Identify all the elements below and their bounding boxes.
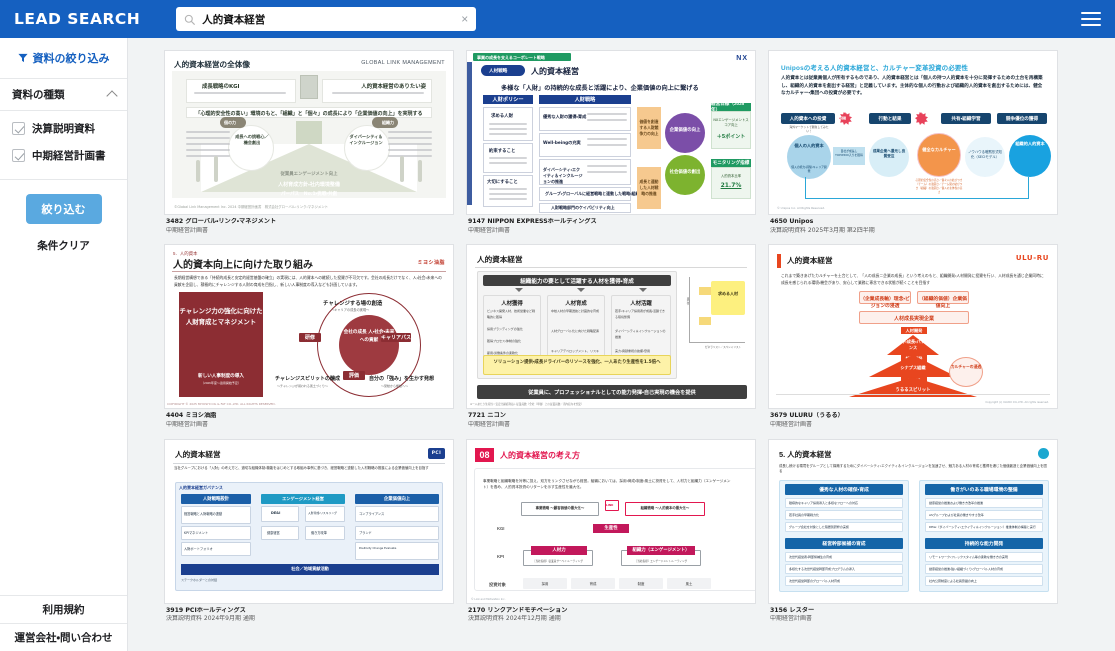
slide-step: 行動と結果 — [869, 113, 911, 124]
slide-footer-bar: 従業員に、プロフェッショナルとしての能力発揮・自己実現の機会を提供 — [477, 385, 747, 399]
slide-right-item-2: 健康経営の推進・強い組織づくり・グローバル人材の育成 — [929, 567, 1003, 571]
slide-circle-bottom: 社会価値の創出 — [669, 169, 701, 175]
filter-section-label: 資料の種類 — [12, 87, 65, 102]
slide-thumbnail[interactable]: 5. 人的資本経営 成長し続ける環境をグループとして構築するためにダイバーシティ… — [768, 439, 1058, 604]
slide-item: Positivity Change Evaluate — [359, 546, 437, 550]
slide-thumbnail[interactable]: 人的資本経営 組織能力の要として活躍する人材を獲得・育成 人材獲得 ビジネス開発… — [466, 244, 756, 409]
filter-section-doctype[interactable]: 資料の種類 — [0, 78, 127, 110]
slide-mid-header: エンゲージメント経営 — [261, 494, 345, 504]
slide-right-item: DE&I（ダイバーシティ・エクイティ＆インクルージョン）推進体制の構築と実行 — [929, 525, 1036, 529]
results-area: 人的資本経営の全体像 GLOBAL LINK MANAGEMENT 成長戦略のK… — [128, 38, 1115, 651]
checkbox-group: 決算説明資料 中期経営計画書 — [0, 110, 127, 179]
slide-title: 人的資本経営の全体像 — [174, 59, 250, 70]
slide-kpi-right-sub: ［当社指標］エンゲージメント・レーティング — [623, 559, 699, 563]
sidebar-title: 資料の絞り込み — [33, 50, 110, 66]
slide-kpi-left: 人材力 — [531, 546, 587, 555]
slide-col-item: ダイバーシティ＆インクルージョンの推進 — [615, 329, 667, 340]
slide-base-2: パーパス No.1・挑戦・共創 — [281, 191, 337, 197]
result-card[interactable]: 5. 人的資本経営 成長し続ける環境をグループとして構築するためにダイバーシティ… — [768, 439, 1058, 623]
slide-invest-item: 制度 — [619, 581, 663, 586]
slide-canvas: 人的資本経営 組織能力の要として活躍する人材を獲得・育成 人材獲得 ビジネス開発… — [467, 245, 755, 408]
slide-badge-right: 組織力 — [382, 120, 394, 126]
slide-node-bl-sub: ～チャレンジが報われる風土づくり～ — [277, 384, 328, 388]
slide-link-label: LINK — [606, 503, 613, 507]
slide-step: 共有・組織学習 — [941, 113, 991, 124]
slide-col-item: 獲得プロセス・体制の強化 — [487, 339, 537, 343]
slide-step: 人的資本への投資 — [781, 113, 835, 124]
slide-page-note: ※一人あたり生産性＝安定化継続利益＋従業員数（全社（単独）上の従業員数／所内給与… — [470, 402, 584, 406]
card-company: 4404 ミヨシ油脂 — [166, 412, 452, 420]
slide-col-header: 人材活躍 — [611, 299, 671, 307]
slide-invest-item: 採用 — [523, 581, 567, 586]
slide-logo: ULU-RU — [1016, 254, 1049, 262]
slide-thumbnail[interactable]: Uniposの考える人的資本経営と、カルチャー変革投資の必要性 人的資本とは従業… — [768, 50, 1058, 215]
slide-canvas: 5. 人的資本経営 成長し続ける環境をグループとして構築するためにダイバーシティ… — [769, 440, 1057, 603]
slide-red-box: チャレンジ力の強化に向けた人財育成とマネジメント — [179, 307, 263, 328]
slide-pyr-1: イキイキ・成長・パフォーマンス — [887, 339, 939, 351]
checkbox-row-kessan[interactable]: 決算説明資料 — [0, 115, 127, 142]
slide-item: 働き方改革 — [311, 530, 327, 535]
card-caption: 4404 ミヨシ油脂 中期経営計画書 — [164, 409, 454, 428]
slide-step: 競争優位の獲得 — [997, 113, 1047, 124]
slide-ribbon: 事業の成長を支えるコーポレート戦略 — [477, 55, 545, 61]
slide-title: 人的資本経営 — [477, 254, 523, 265]
results-grid: 人的資本経営の全体像 GLOBAL LINK MANAGEMENT 成長戦略のK… — [164, 50, 1101, 623]
slide-footer: © Unipos Inc. All Rights Reserved. — [777, 206, 825, 210]
apply-filter-button[interactable]: 絞り込む — [26, 194, 102, 224]
checkbox-label-chuki: 中期経営計画書 — [32, 148, 106, 163]
slide-lead: 成長し続ける環境をグループとして構築するためにダイバーシティ・エクイティ＆インク… — [779, 464, 1047, 476]
checkbox-kessan[interactable] — [12, 122, 25, 135]
slide-col1-item: 約束すること — [489, 148, 515, 154]
slide-left-header-2: 経営幹部候補の育成 — [785, 538, 903, 549]
slide-right-header: 企業価値向上 — [355, 494, 439, 504]
slide-right-item-2: リモートワーク・フレックスタイム等の柔軟な働き方の実現 — [929, 555, 1008, 559]
card-doctype: 中期経営計画書 — [166, 227, 452, 235]
card-caption: 3156 レスター 中期経営計画書 — [768, 604, 1058, 623]
card-company: 4650 Unipos — [770, 218, 1056, 226]
slide-side-note: ステークホルダーとの対話 — [181, 578, 217, 582]
slide-chart-x: ゼネラリスト／スペシャリスト — [705, 345, 741, 349]
slide-pyr-2: シナプス組織 — [885, 365, 941, 371]
card-caption: 4650 Unipos 決算説明資料 2025年3月期 第2四半期 — [768, 215, 1058, 234]
slide-kpi-value: ＋5ポイント — [713, 133, 749, 140]
slide-mon-name: 人的資本比率 — [713, 173, 749, 178]
slide-node-5: 組織的人的資本 — [1012, 141, 1048, 147]
slide-left-item: 若手社員の早期戦力化 — [789, 513, 819, 517]
slide-col1-header: 人財ポリシー — [483, 95, 533, 104]
slide-base-1: 人材育成方針・社内環境整備 — [278, 181, 340, 188]
sidebar-title-row: 資料の絞り込み — [0, 38, 127, 78]
card-caption: 3919 PCIホールディングス 決算説明資料 2024年9月期 通期 — [164, 604, 454, 623]
slide-title: Uniposの考える人的資本経営と、カルチャー変革投資の必要性 — [781, 63, 968, 72]
card-doctype: 中期経営計画書 — [166, 421, 452, 429]
search-input[interactable]: 人的資本経営 — [202, 12, 457, 27]
slide-canvas: 08 人的資本経営の考え方 事業戦略と組織戦略を対等に捉え、双方をリンクさせなが… — [467, 440, 755, 603]
card-caption: 3482 グローバル・リンク・マネジメント 中期経営計画書 — [164, 215, 454, 234]
slide-flow-up: 価値を創造する人財競争力の向上 — [639, 119, 659, 137]
sidebar-link-contact[interactable]: 運営会社・問い合わせ — [0, 623, 127, 651]
slide-number: 08 — [475, 448, 494, 462]
slide-col-item: 中核人材の早期選抜と計画的な育成 — [551, 309, 601, 314]
chevron-up-icon[interactable] — [106, 90, 117, 101]
slide-circle-left: 成長への挑戦心／機会創出 — [234, 134, 270, 146]
card-doctype: 決算説明資料 2024年12月期 通期 — [468, 615, 754, 623]
card-doctype: 決算説明資料 2024年9月期 通期 — [166, 615, 452, 623]
slide-canvas: 人的資本経営の全体像 GLOBAL LINK MANAGEMENT 成長戦略のK… — [165, 51, 453, 214]
slide-canvas: 人的資本経営 PCI 当社グループにおける「人財」の考え方と、適切な組織体制・機… — [165, 440, 453, 603]
slide-mon-value: 21.7% — [713, 182, 749, 189]
result-card[interactable]: 人的資本経営 ULU-RU これまで築きあげたカルチャーを土台として、「人の成長… — [768, 244, 1058, 428]
slide-node-br: 自分の「強み」を生かす発想 — [369, 375, 434, 382]
slide-paragraph: 人的資本とは従業員個人が所有するものであり、人的資本経営とは「個人の持つ人的資本… — [781, 75, 1043, 98]
slide-item: 経営戦略と人財戦略の連動 — [184, 511, 248, 516]
slide-kgi-value: 生産性 — [593, 524, 629, 533]
slide-col-item: 採用ブランディングの強化 — [487, 327, 537, 331]
slide-right-item-2: 社内公募制度による社員意識の向上 — [929, 579, 977, 583]
slide-thumbnail[interactable]: 人的資本経営の全体像 GLOBAL LINK MANAGEMENT 成長戦略のK… — [164, 50, 454, 215]
slide-red-box-sub: 新しい人事制度の導入 — [179, 373, 263, 379]
slide-invest-item: 育成 — [571, 581, 615, 586]
slide-logo-icon — [1038, 448, 1049, 459]
card-doctype: 決算説明資料 2025年3月期 第2四半期 — [770, 227, 1056, 235]
slide-thumbnail[interactable]: 人的資本経営 PCI 当社グループにおける「人財」の考え方と、適切な組織体制・機… — [164, 439, 454, 604]
slide-canvas: 5．人的資本 人的資本向上に向けた取り組み ミヨシ油脂 長期経営構想である「持続… — [165, 245, 453, 408]
slide-item: 人財ポートフォリオ — [184, 546, 213, 551]
slide-col1-item: 求める人財 — [491, 113, 513, 119]
app-header: LEAD SEARCH 人的資本経営 × — [0, 0, 1115, 38]
slide-pyr-3: うるるスピリット — [878, 387, 948, 393]
result-card[interactable]: 事業の成長を支えるコーポレート戦略 人材戦略 人的資本経営 NX 多様な「人財」… — [466, 50, 756, 234]
slide-red-box-note: （2026年度～適用開始予定） — [179, 381, 263, 385]
slide-node-3: 健全なカルチャー — [921, 147, 957, 153]
clear-search-icon[interactable]: × — [457, 13, 468, 25]
slide-title: 人的資本向上に向けた取り組み — [173, 256, 313, 271]
slide-node-top-sub: ～キャリアの成長の実現～ — [331, 307, 369, 312]
slide-box-right: 組織戦略 ～人的資本の最大化～ — [627, 505, 703, 510]
slide-kpi-label: KPI — [497, 554, 504, 559]
card-caption: 2170 リンクアンドモチベーション 決算説明資料 2024年12月期 通期 — [466, 604, 756, 623]
slide-flow-down: 成長と連動した人材戦略の推進 — [639, 179, 659, 197]
slide-item: 健康経営 — [267, 530, 280, 535]
slide-col2-item: 人財戦略部門のケイパビリティ向上 — [551, 205, 615, 211]
slide-thumbnail[interactable]: 事業の成長を支えるコーポレート戦略 人材戦略 人的資本経営 NX 多様な「人財」… — [466, 50, 756, 215]
slide-title: 人的資本経営 — [531, 66, 579, 77]
slide-footer: COPYRIGHT © 2025 MIYOSHI OIL & FAT CO.,L… — [167, 402, 276, 406]
card-company: 9147 NIPPON EXPRESSホールディングス — [468, 218, 754, 226]
slide-logo: ミヨシ油脂 — [417, 259, 445, 266]
search-bar[interactable]: 人的資本経営 × — [176, 7, 476, 31]
slide-chart-y: 専門性 — [685, 297, 689, 305]
slide-thumbnail[interactable]: 5．人的資本 人的資本向上に向けた取り組み ミヨシ油脂 長期経営構想である「持続… — [164, 244, 454, 409]
slide-tag-bottom: 評価 — [343, 371, 365, 380]
slide-item: 人財育成・リスキリング — [308, 511, 344, 515]
filter-sidebar: 資料の絞り込み 資料の種類 決算説明資料 中期経営計画書 絞り込む 条件クリア — [0, 38, 128, 651]
slide-footer: © Link and Motivation Inc. — [471, 598, 505, 601]
slide-left-item-2: 次世代経営幹部のグローバル人材育成 — [789, 579, 840, 583]
slide-left-item-2: 多様化する次世代経営幹部育成プログラムの導入 — [789, 567, 855, 571]
slide-box-left: 事業戦略 ～顧客価値の最大化～ — [523, 505, 597, 510]
slide-mon-header: モニタリング指標 — [711, 159, 751, 167]
result-card[interactable]: 08 人的資本経営の考え方 事業戦略と組織戦略を対等に捉え、双方をリンクさせなが… — [466, 439, 756, 623]
filter-actions: 絞り込む 条件クリア — [0, 179, 127, 253]
slide-invest-item: 風土 — [667, 581, 711, 586]
slide-right-item: ASグループおよび社員の働きやすさ改革 — [929, 513, 984, 517]
card-company: 3156 レスター — [770, 607, 1056, 615]
slide-node-1: 個人の人的資本 — [791, 143, 827, 149]
slide-col-item: 若手・キャリア採用者が成長・活躍できる環境整備 — [615, 309, 667, 320]
slide-col-header: 人材育成 — [547, 299, 605, 307]
checkbox-label-kessan: 決算説明資料 — [32, 121, 95, 136]
slide-left-header: 成長戦略のKGI — [202, 82, 240, 90]
slide-left-header: 人財戦略設計 — [181, 494, 251, 504]
checkbox-row-chuki[interactable]: 中期経営計画書 — [0, 142, 127, 169]
slide-kpi-name: NXエンゲージメントスコア向上 — [713, 117, 749, 127]
slide-chart-label: 求める人材 — [715, 291, 741, 297]
slide-logo: NX — [736, 55, 748, 62]
slide-tag-right: キャリアパス — [381, 333, 411, 342]
slide-node-1-sub: 個人の能力・経験・キャリア開発 — [791, 165, 827, 173]
slide-item: ブランド — [359, 530, 372, 535]
slide-circle-right: ダイバーシティ＆インクルージョン — [348, 134, 384, 146]
slide-tab: 人材戦略 — [489, 68, 507, 74]
slide-item: DE&I — [271, 511, 280, 515]
slide-left-item-2: 次世代経営者・幹部候補生の育成 — [789, 555, 832, 559]
slide-banner: 「心理的安全性の高い」環境のもと、「組織」と「個々」の成長により「企業価値の向上… — [195, 110, 422, 117]
slide-lead: 長期経営構想である「持続的成長と安定的経営基盤の確立」の実現には、人的資本への継… — [174, 275, 444, 288]
result-card[interactable]: 人的資本経営の全体像 GLOBAL LINK MANAGEMENT 成長戦略のK… — [164, 50, 454, 234]
hamburger-icon[interactable] — [1081, 12, 1101, 26]
slide-kgi-label: KGI — [497, 526, 504, 531]
slide-title: 人的資本経営 — [787, 255, 833, 266]
slide-title: 5. 人的資本経営 — [779, 449, 832, 460]
card-company: 2170 リンクアンドモチベーション — [468, 607, 754, 615]
slide-title: 人的資本経営 — [175, 449, 221, 460]
slide-node-br-sub: ～受動から能動へ～ — [381, 384, 408, 388]
app-logo[interactable]: LEAD SEARCH — [14, 10, 140, 28]
slide-lead: 多様な「人財」の持続的な成長と活躍により、企業価値の向上に繋げる — [501, 83, 699, 92]
slide-right-header-2: 持続的な能力開発 — [925, 538, 1043, 549]
slide-canvas: 事業の成長を支えるコーポレート戦略 人材戦略 人的資本経営 NX 多様な「人財」… — [467, 51, 755, 214]
card-doctype: 中期経営計画書 — [770, 421, 1056, 429]
slide-annotation-mid: 自社が成長しTOPIX500入りを獲得 — [835, 149, 863, 157]
slide-pyr-1-tag: 人材開発 — [901, 327, 927, 334]
slide-right-item: 健康経営の推進および働き方改革の推進 — [929, 501, 983, 505]
slide-node-4: ノウハウる暗黙形式知化（SECIモデル） — [968, 149, 1002, 159]
slide-thumbnail[interactable]: 人的資本経営 ULU-RU これまで築きあげたカルチャーを土台として、「人の成長… — [768, 244, 1058, 409]
app-body: 資料の絞り込み 資料の種類 決算説明資料 中期経営計画書 絞り込む 条件クリア — [0, 38, 1115, 651]
funnel-icon — [18, 53, 28, 63]
slide-badge-left: 個の力 — [224, 120, 236, 126]
slide-left-item: 積極的なキャリア採用導入と多様なフローへの対応 — [789, 501, 858, 505]
slide-top-right: （組織的価値）企業価値向上 — [917, 295, 969, 309]
sidebar-link-terms[interactable]: 利用規約 — [0, 595, 127, 623]
card-caption: 9147 NIPPON EXPRESSホールディングス 中期経営計画書 — [466, 215, 756, 234]
slide-panel-title: 人的資本経営ガバナンス — [179, 485, 223, 491]
slide-circle-top: 企業価値の向上 — [669, 127, 701, 133]
slide-kpi-right: 組織力（エンゲージメント） — [627, 546, 695, 555]
slide-kpi-header: 経営目標（2025年） — [711, 103, 751, 111]
slide-connector: 飛躍 — [840, 116, 846, 120]
slide-tag-left: 研修 — [299, 333, 321, 342]
result-card[interactable]: 人的資本経営 組織能力の要として活躍する人材を獲得・育成 人材獲得 ビジネス開発… — [466, 244, 756, 428]
slide-lead: これまで築きあげたカルチャーを土台として、「人の成長＝企業の成長」という考えのも… — [781, 273, 1047, 287]
slide-invest-label: 投資対象 — [489, 582, 506, 588]
card-company: 3679 ULURU（うるる） — [770, 412, 1056, 420]
slide-col2-item: ダイバーシティ・エクイティ＆インクルージョンの推進 — [543, 167, 583, 185]
card-doctype: 中期経営計画書 — [770, 615, 1056, 623]
slide-right-header: 働きがいのある職場環境の整備 — [925, 484, 1043, 495]
checkbox-chuki[interactable] — [12, 149, 25, 162]
slide-top-left: （企業成長軸）理念・ビジョンの浸透 — [859, 295, 911, 309]
slide-col2-item: 優秀な人財の獲得・育成 — [543, 114, 586, 120]
slide-brand: GLOBAL LINK MANAGEMENT — [361, 60, 445, 66]
slide-thumbnail[interactable]: 08 人的資本経営の考え方 事業戦略と組織戦略を対等に捉え、双方をリンクさせなが… — [466, 439, 756, 604]
slide-side-note: カルチャーの浸透 — [949, 365, 983, 370]
card-doctype: 中期経営計画書 — [468, 227, 754, 235]
slide-col2-item: Well-beingの充実 — [543, 140, 581, 146]
slide-canvas: Uniposの考える人的資本経営と、カルチャー変革投資の必要性 人的資本とは従業… — [769, 51, 1057, 214]
clear-filter-button[interactable]: 条件クリア — [0, 238, 127, 253]
slide-col-header: 人材獲得 — [483, 299, 541, 307]
slide-left-header: 優秀な人材の確保・育成 — [785, 484, 903, 495]
slide-col-item: 実力・貢献重視の抜擢・登用 — [615, 349, 667, 354]
slide-kpi-left-sub: ［当社指標］従業員サーベイ・レーティング — [525, 559, 591, 563]
slide-engagement: 従業員エンゲージメント向上 — [281, 171, 338, 177]
slide-col-item: ビジネス開発人材、技術営業など戦略的に獲得 — [487, 309, 537, 320]
slide-node-2: 成果企業へ還元し良質受注 — [872, 149, 906, 159]
card-caption: 3679 ULURU（うるる） 中期経営計画書 — [768, 409, 1058, 428]
sidebar-spacer — [0, 253, 127, 595]
card-company: 7721 ニコン — [468, 412, 754, 420]
slide-panel: 成長戦略のKGI 人的資本経営のありたい姿 「心理的安全性の高い」環境のもと、「… — [172, 71, 446, 198]
card-company: 3482 グローバル・リンク・マネジメント — [166, 218, 452, 226]
slide-footer: Copyright (c) ULURU CO.,LTD. All rights … — [985, 401, 1049, 404]
app-root: LEAD SEARCH 人的資本経営 × 資料の絞り込み — [0, 0, 1115, 651]
slide-col2-header: 人財戦略 — [539, 95, 631, 104]
slide-item: コンプライアンス — [359, 511, 384, 516]
slide-col1-item: 大切にすること — [487, 179, 518, 185]
result-card[interactable]: 5．人的資本 人的資本向上に向けた取り組み ミヨシ油脂 長期経営構想である「持続… — [164, 244, 454, 428]
slide-right-header: 人的資本経営のありたい姿 — [361, 82, 426, 90]
card-company: 3919 PCIホールディングス — [166, 607, 452, 615]
slide-col2-item: グループ・グローバルに経営戦略と連動した戦略・組織の改革 — [545, 191, 651, 197]
slide-node-top: チャレンジする場の創造 — [323, 299, 382, 307]
slide-sub: 当社グループにおける「人財」の考え方と、適切な組織体制・機能をはじめとする取組み… — [174, 466, 442, 472]
slide-banner: 組織能力の要として活躍する人材を獲得・育成 — [483, 275, 671, 286]
slide-node-bl: チャレンジスピリットの醸成 — [275, 375, 340, 382]
search-icon — [184, 14, 195, 25]
slide-canvas: 人的資本経営 ULU-RU これまで築きあげたカルチャーを土台として、「人の成長… — [769, 245, 1057, 408]
slide-title: 人的資本経営の考え方 — [500, 450, 580, 461]
slide-highlight: ソリューション提供・成長ドライバーのリソースを強化、一人あたり生産性を1.5倍へ — [485, 359, 669, 366]
slide-logo: PCI — [428, 448, 445, 459]
slide-bottom-tag: 社会／地域貢献活動 — [181, 564, 439, 575]
slide-left-item: グループ会社を対象とした階層別研修の実施 — [789, 525, 849, 529]
card-caption: 7721 ニコン 中期経営計画書 — [466, 409, 756, 428]
slide-mid: 人材成長実現企業 — [859, 315, 969, 322]
slide-lead: 事業戦略と組織戦略を対等に捉え、双方をリンクさせながら経営。組織においては、採用… — [483, 478, 733, 492]
slide-annotation-top: 海外マーケットで勝負してみたい！ — [789, 125, 829, 133]
slide-item: KPIマネジメント — [184, 530, 208, 535]
result-card[interactable]: Uniposの考える人的資本経営と、カルチャー変革投資の必要性 人的資本とは従業… — [768, 50, 1058, 234]
slide-footer: ©Global Link Management Inc. 2024 中期経営計画… — [174, 204, 328, 209]
slide-col-item: 人材グローバル化に向けた戦略配置 — [551, 329, 601, 334]
result-card[interactable]: 人的資本経営 PCI 当社グループにおける「人財」の考え方と、適切な組織体制・機… — [164, 439, 454, 623]
card-doctype: 中期経営計画書 — [468, 421, 754, 429]
